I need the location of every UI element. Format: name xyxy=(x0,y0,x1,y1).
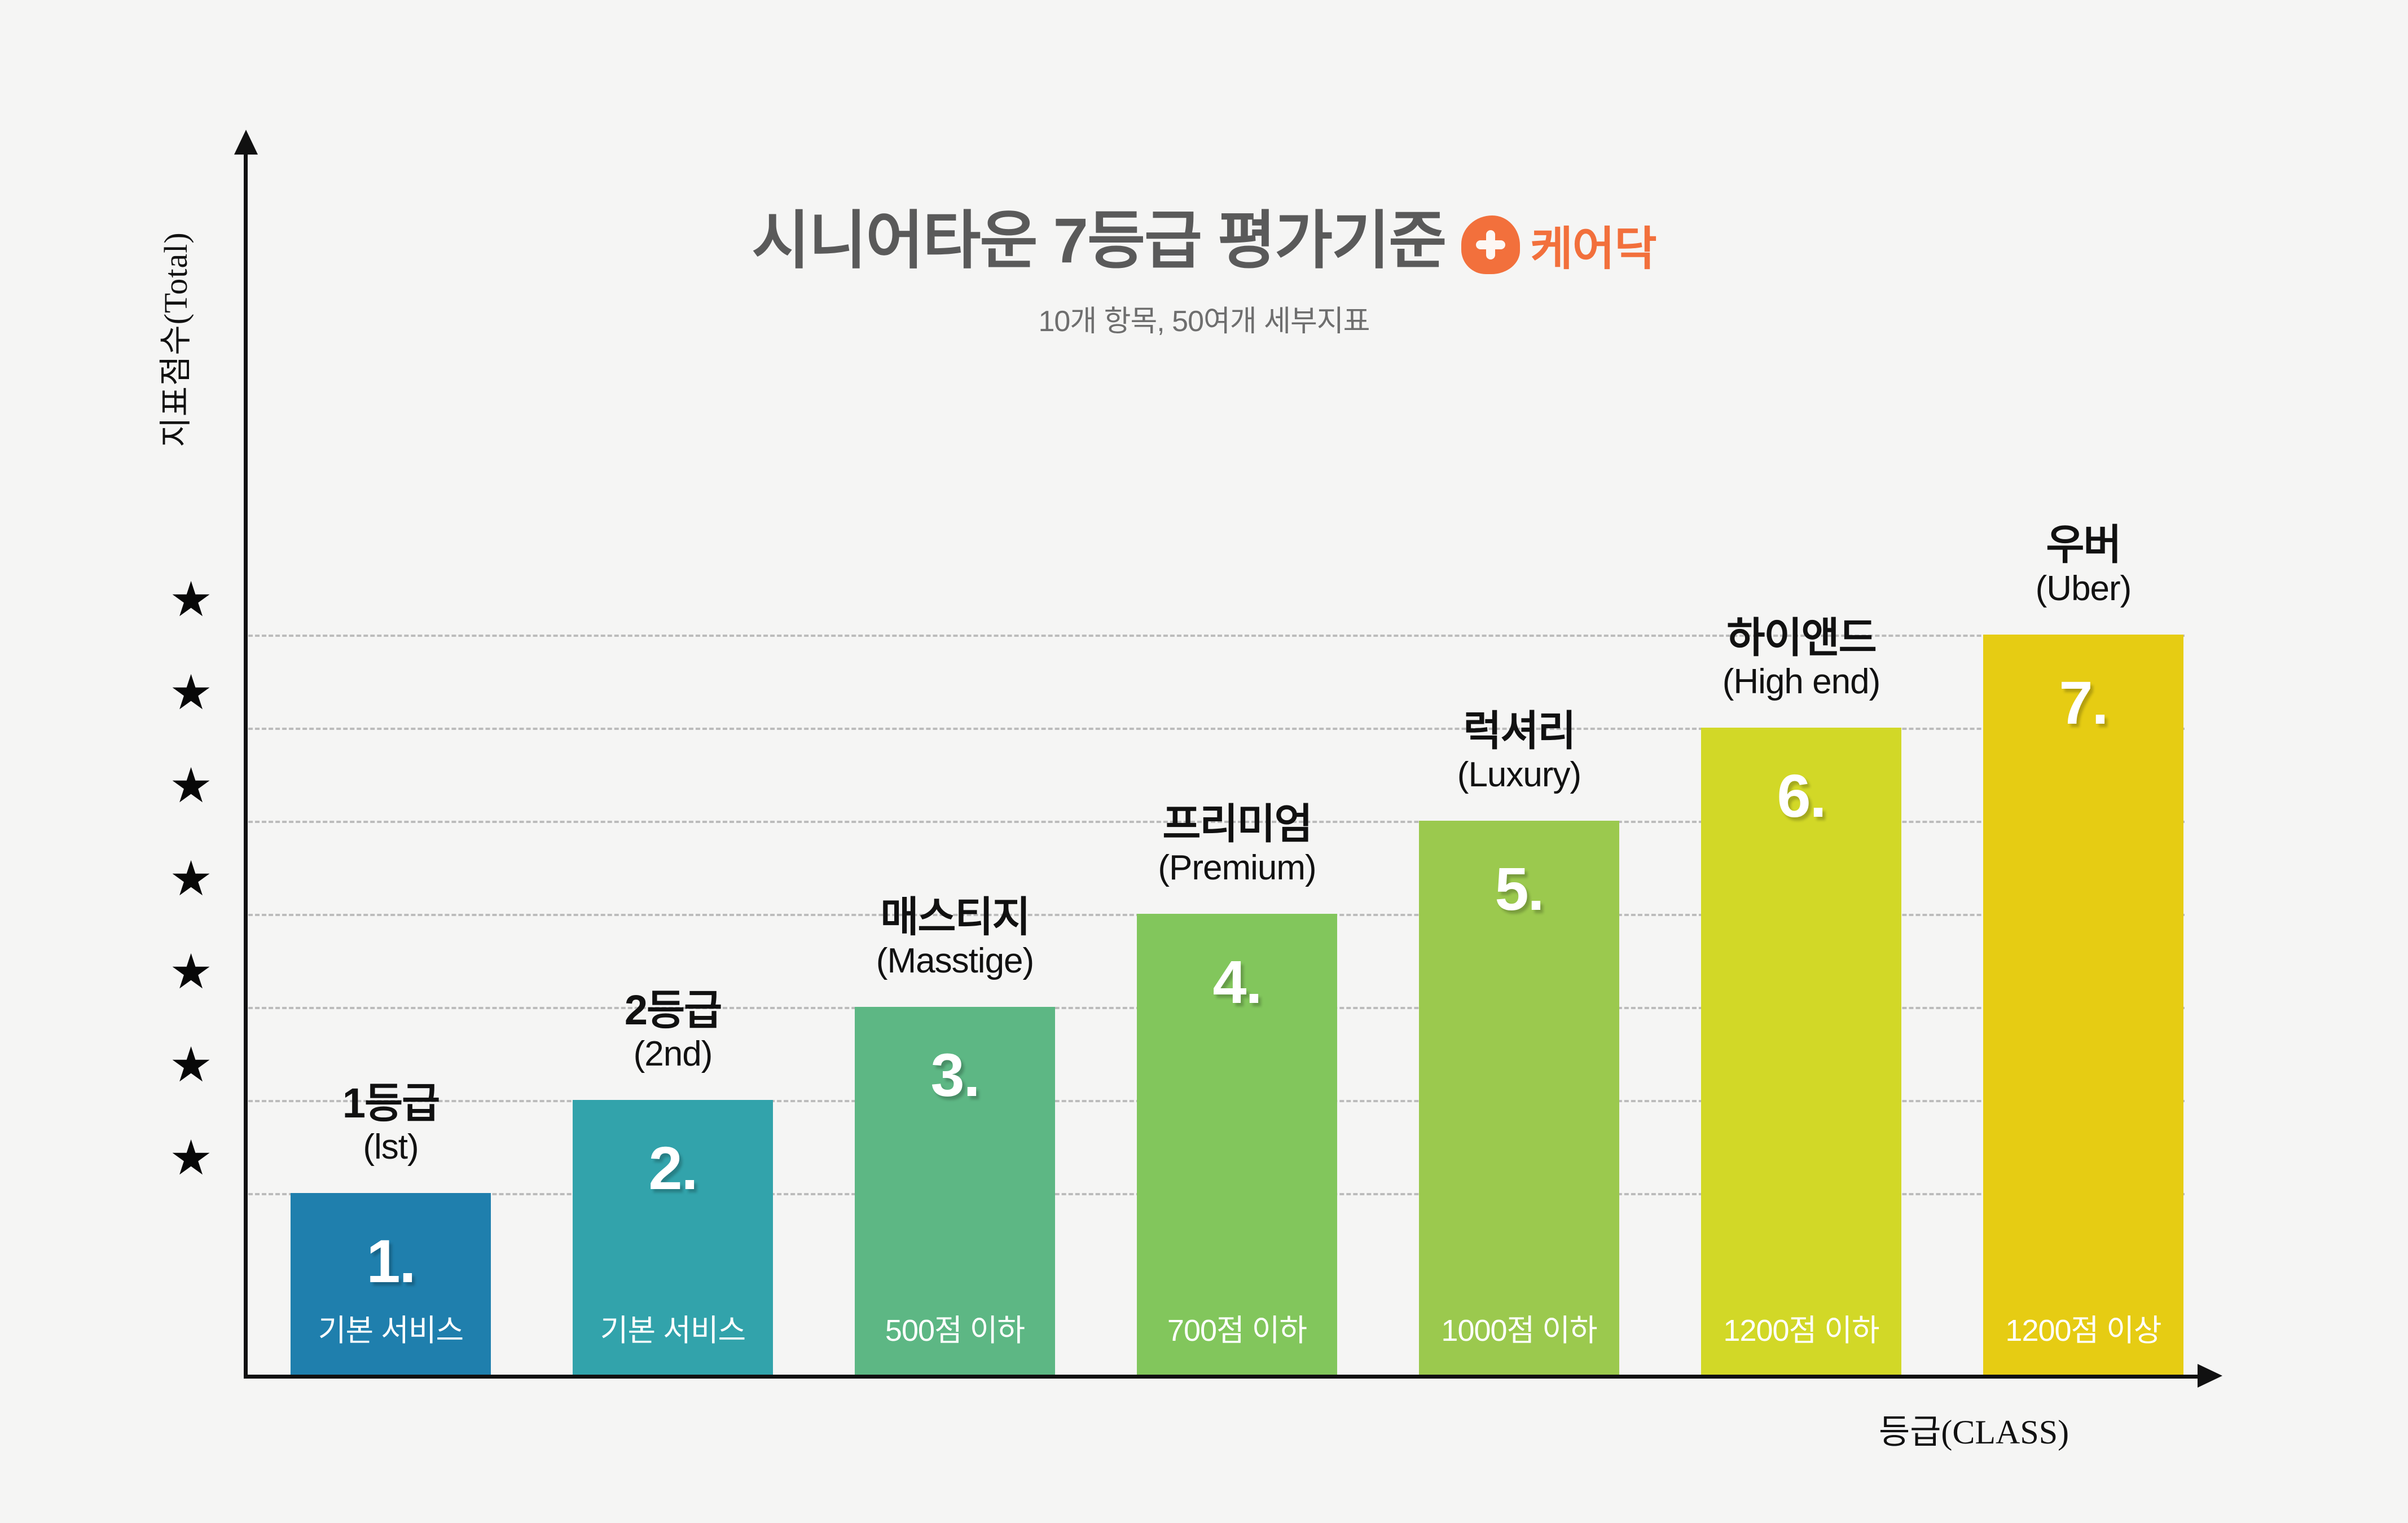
bar-score-label: 1200점 이하 xyxy=(1701,1305,1901,1350)
bar-score-label: 기본 서비스 xyxy=(291,1305,491,1350)
caredoc-logo: 케어닥 xyxy=(1461,211,1656,278)
chart-header: 시니어타운 7등급 평가기준 케어닥 10개 항목, 50여개 세부지표 xyxy=(0,203,2408,340)
bar-caption-rank-4: 프리미엄(Premium) xyxy=(1052,801,1422,888)
bar-rank-7[interactable]: 7.1200점 이상 xyxy=(1983,635,2183,1375)
x-axis-arrow-icon xyxy=(2198,1364,2222,1388)
page-title: 시니어타운 7등급 평가기준 xyxy=(752,208,1445,274)
bar-rank-5[interactable]: 5.1000점 이하 xyxy=(1419,821,1619,1375)
bar-rank-number: 2. xyxy=(573,1133,773,1203)
bar-grade-name-kr: 우버 xyxy=(1899,522,2268,569)
bar-rank-4[interactable]: 4.700점 이하 xyxy=(1137,914,1337,1375)
bar-score-label: 기본 서비스 xyxy=(573,1305,773,1350)
bar-rank-6[interactable]: 6.1200점 이하 xyxy=(1701,728,1901,1375)
star-tick-icon: ★ xyxy=(169,761,213,810)
bar-caption-rank-6: 하이앤드(High end) xyxy=(1616,615,1986,702)
star-tick-icon: ★ xyxy=(169,1134,213,1182)
bar-caption-rank-5: 럭셔리(Luxury) xyxy=(1334,708,1704,795)
gridline xyxy=(248,635,2185,637)
chart-canvas: 시니어타운 7등급 평가기준 케어닥 10개 항목, 50여개 세부지표 지표점… xyxy=(0,0,2408,1523)
bar-rank-number: 6. xyxy=(1701,760,1901,831)
logo-wordmark: 케어닥 xyxy=(1530,211,1656,278)
bar-caption-rank-1: 1등급(lst) xyxy=(206,1080,575,1167)
bar-grade-name-en: (Luxury) xyxy=(1334,755,1704,795)
bar-grade-name-kr: 하이앤드 xyxy=(1616,615,1986,662)
star-tick-icon: ★ xyxy=(169,948,213,996)
bar-score-label: 1200점 이상 xyxy=(1983,1305,2183,1350)
bar-caption-rank-3: 매스티지(Masstige) xyxy=(770,894,1140,981)
bar-rank-number: 7. xyxy=(1983,667,2183,738)
star-tick-icon: ★ xyxy=(169,1041,213,1089)
bar-grade-name-kr: 1등급 xyxy=(206,1080,575,1127)
bar-rank-2[interactable]: 2.기본 서비스 xyxy=(573,1100,773,1375)
bar-rank-3[interactable]: 3.500점 이하 xyxy=(855,1007,1055,1375)
chart-subtitle: 10개 항목, 50여개 세부지표 xyxy=(0,297,2408,340)
bar-grade-name-en: (lst) xyxy=(206,1127,575,1167)
bar-grade-name-en: (High end) xyxy=(1616,662,1986,702)
title-row: 시니어타운 7등급 평가기준 케어닥 xyxy=(0,203,2408,278)
y-axis-line xyxy=(244,148,248,1377)
bar-rank-number: 4. xyxy=(1137,947,1337,1017)
bar-grade-name-en: (2nd) xyxy=(488,1034,858,1074)
plus-blob-icon xyxy=(1461,215,1520,274)
x-axis-label: 등급(CLASS) xyxy=(1879,1405,2069,1454)
bar-grade-name-kr: 매스티지 xyxy=(770,894,1140,941)
bar-rank-number: 3. xyxy=(855,1040,1055,1110)
y-axis-label: 지표점수(Total) xyxy=(149,153,196,526)
bar-grade-name-en: (Uber) xyxy=(1899,569,2268,609)
star-tick-icon: ★ xyxy=(169,855,213,903)
bar-caption-rank-2: 2등급(2nd) xyxy=(488,987,858,1074)
bar-score-label: 1000점 이하 xyxy=(1419,1305,1619,1350)
x-axis-line xyxy=(244,1375,2202,1379)
bar-grade-name-kr: 프리미엄 xyxy=(1052,801,1422,848)
bar-grade-name-en: (Premium) xyxy=(1052,848,1422,888)
bar-rank-1[interactable]: 1.기본 서비스 xyxy=(291,1193,491,1375)
bar-score-label: 700점 이하 xyxy=(1137,1305,1337,1350)
bar-rank-number: 1. xyxy=(291,1226,491,1296)
bar-caption-rank-7: 우버(Uber) xyxy=(1899,522,2268,609)
bar-grade-name-kr: 2등급 xyxy=(488,987,858,1034)
bar-grade-name-en: (Masstige) xyxy=(770,941,1140,981)
star-tick-icon: ★ xyxy=(169,668,213,717)
star-tick-icon: ★ xyxy=(169,575,213,624)
bar-grade-name-kr: 럭셔리 xyxy=(1334,708,1704,755)
bar-rank-number: 5. xyxy=(1419,853,1619,924)
bar-score-label: 500점 이하 xyxy=(855,1305,1055,1350)
